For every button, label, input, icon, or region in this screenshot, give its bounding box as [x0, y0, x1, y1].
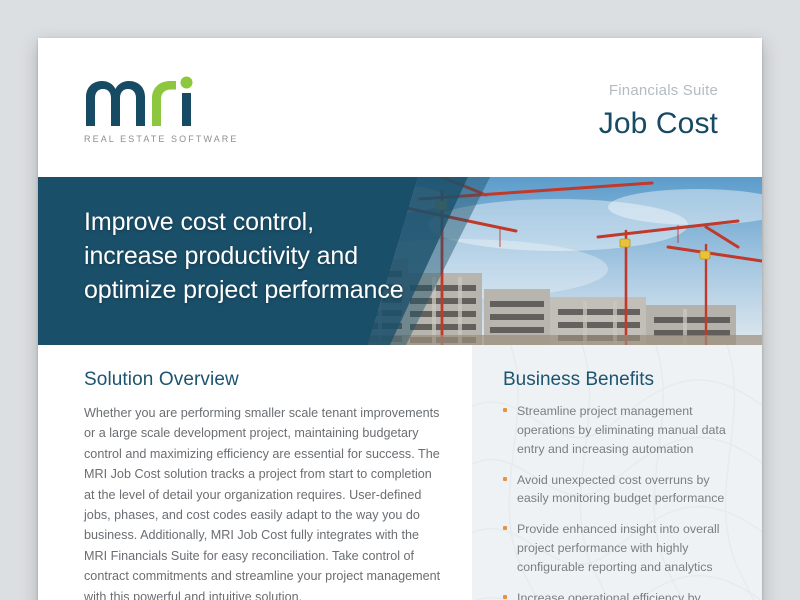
brand-logo[interactable]: REAL ESTATE SOFTWARE: [84, 76, 244, 144]
business-benefits-heading: Business Benefits: [490, 369, 732, 391]
hero-headline-line-1: Improve cost control,: [84, 205, 504, 239]
business-benefits-list: Streamline project management operations…: [490, 402, 732, 600]
document-page: REAL ESTATE SOFTWARE Financials Suite Jo…: [38, 38, 762, 600]
content-area: Solution Overview Whether you are perfor…: [38, 345, 762, 600]
page-header: REAL ESTATE SOFTWARE Financials Suite Jo…: [38, 38, 762, 177]
suite-label: Financials Suite: [599, 82, 718, 100]
hero-headline: Improve cost control, increase productiv…: [84, 205, 504, 307]
hero-headline-line-2: increase productivity and: [84, 239, 504, 273]
list-item: Provide enhanced insight into overall pr…: [490, 520, 732, 577]
list-item: Streamline project management operations…: [490, 402, 732, 459]
solution-overview-heading: Solution Overview: [84, 369, 444, 391]
business-benefits-panel: Business Benefits Streamline project man…: [472, 345, 762, 600]
mri-wordmark-icon: [84, 76, 208, 128]
logo-tagline: REAL ESTATE SOFTWARE: [84, 134, 244, 144]
hero-headline-line-3: optimize project performance: [84, 273, 504, 307]
list-item: Avoid unexpected cost overruns by easily…: [490, 471, 732, 509]
header-product-block: Financials Suite Job Cost: [599, 82, 718, 140]
solution-overview-paragraph: Whether you are performing smaller scale…: [84, 403, 444, 600]
list-item: Increase operational efficiency by: [490, 589, 732, 600]
product-title: Job Cost: [599, 107, 718, 140]
screenshot-stage: REAL ESTATE SOFTWARE Financials Suite Jo…: [0, 0, 800, 600]
main-column: Solution Overview Whether you are perfor…: [38, 345, 472, 600]
hero-banner: Improve cost control, increase productiv…: [38, 177, 762, 345]
